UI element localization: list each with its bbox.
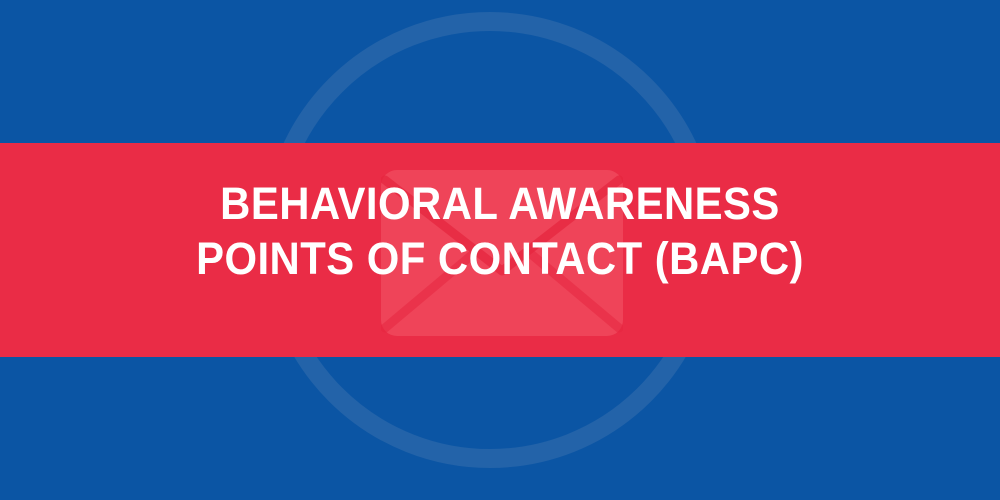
- banner-title: BEHAVIORAL AWARENESS POINTS OF CONTACT (…: [0, 176, 1000, 286]
- title-line-1: BEHAVIORAL AWARENESS: [35, 176, 965, 231]
- title-line-2: POINTS OF CONTACT (BAPC): [35, 231, 965, 286]
- banner-graphic: BEHAVIORAL AWARENESS POINTS OF CONTACT (…: [0, 0, 1000, 500]
